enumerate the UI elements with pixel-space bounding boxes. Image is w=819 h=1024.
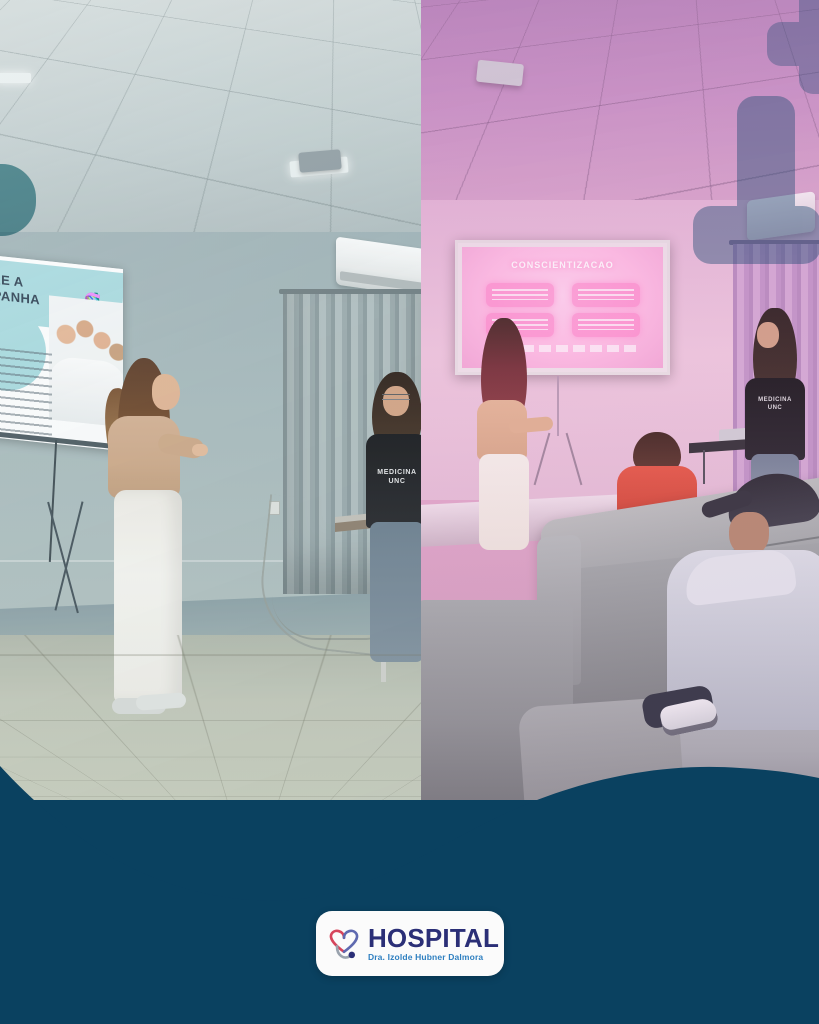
presenter-face — [152, 374, 180, 410]
ceiling-tiles-right — [421, 0, 819, 215]
presenter-right — [465, 318, 549, 548]
presenter-shoe — [136, 692, 187, 710]
shirt-text-line1: MEDICINA — [366, 468, 421, 477]
heart-stethoscope-icon — [325, 923, 363, 965]
shirt-text-line2: UNC — [366, 477, 421, 486]
eyeglasses-icon — [382, 394, 410, 400]
student-face — [383, 386, 409, 416]
logo-wordmark: HOSPITAL Dra. Izolde Hubner Dalmora — [368, 925, 499, 962]
photo-right: CONSCIENTIZACAO — [421, 0, 819, 800]
student-tshirt — [745, 378, 805, 460]
screen-stand — [557, 376, 559, 436]
photo-collage: SOBRE A CAMPANHA 🧬 — [0, 0, 819, 800]
slide-box — [572, 313, 640, 337]
student-jeans — [370, 522, 421, 662]
slide-box — [486, 283, 554, 307]
student-left: MEDICINA UNC — [366, 372, 421, 662]
presenter-left — [96, 358, 206, 724]
shirt-text-line1: MEDICINA — [743, 396, 807, 404]
logo-title: HOSPITAL — [368, 925, 499, 951]
presenter-arm — [508, 416, 553, 434]
logo-inner: HOSPITAL Dra. Izolde Hubner Dalmora — [321, 923, 499, 965]
ceiling-light-icon — [0, 73, 31, 83]
presenter-hand — [192, 444, 208, 456]
wave-footer — [0, 724, 819, 1024]
hospital-logo: HOSPITAL Dra. Izolde Hubner Dalmora — [316, 911, 504, 976]
presenter-pants — [479, 454, 529, 550]
presenter-top — [108, 416, 180, 498]
student-shirt-text: MEDICINA UNC — [366, 468, 421, 487]
slide-title-right: CONSCIENTIZACAO — [462, 260, 663, 270]
presenter-pants — [114, 490, 182, 702]
ceiling-projector-icon — [298, 149, 342, 173]
ceiling-projector-icon — [476, 60, 524, 87]
logo-subtitle: Dra. Izolde Hubner Dalmora — [368, 953, 499, 962]
student-face — [757, 322, 779, 348]
ceiling-tiles-left — [0, 0, 421, 250]
shirt-text-line2: UNC — [743, 404, 807, 412]
slide-body-text — [0, 347, 52, 438]
slide-box — [572, 283, 640, 307]
student-shirt-text: MEDICINA UNC — [743, 396, 807, 412]
social-post-canvas: SOBRE A CAMPANHA 🧬 — [0, 0, 819, 1024]
photo-left: SOBRE A CAMPANHA 🧬 — [0, 0, 421, 800]
